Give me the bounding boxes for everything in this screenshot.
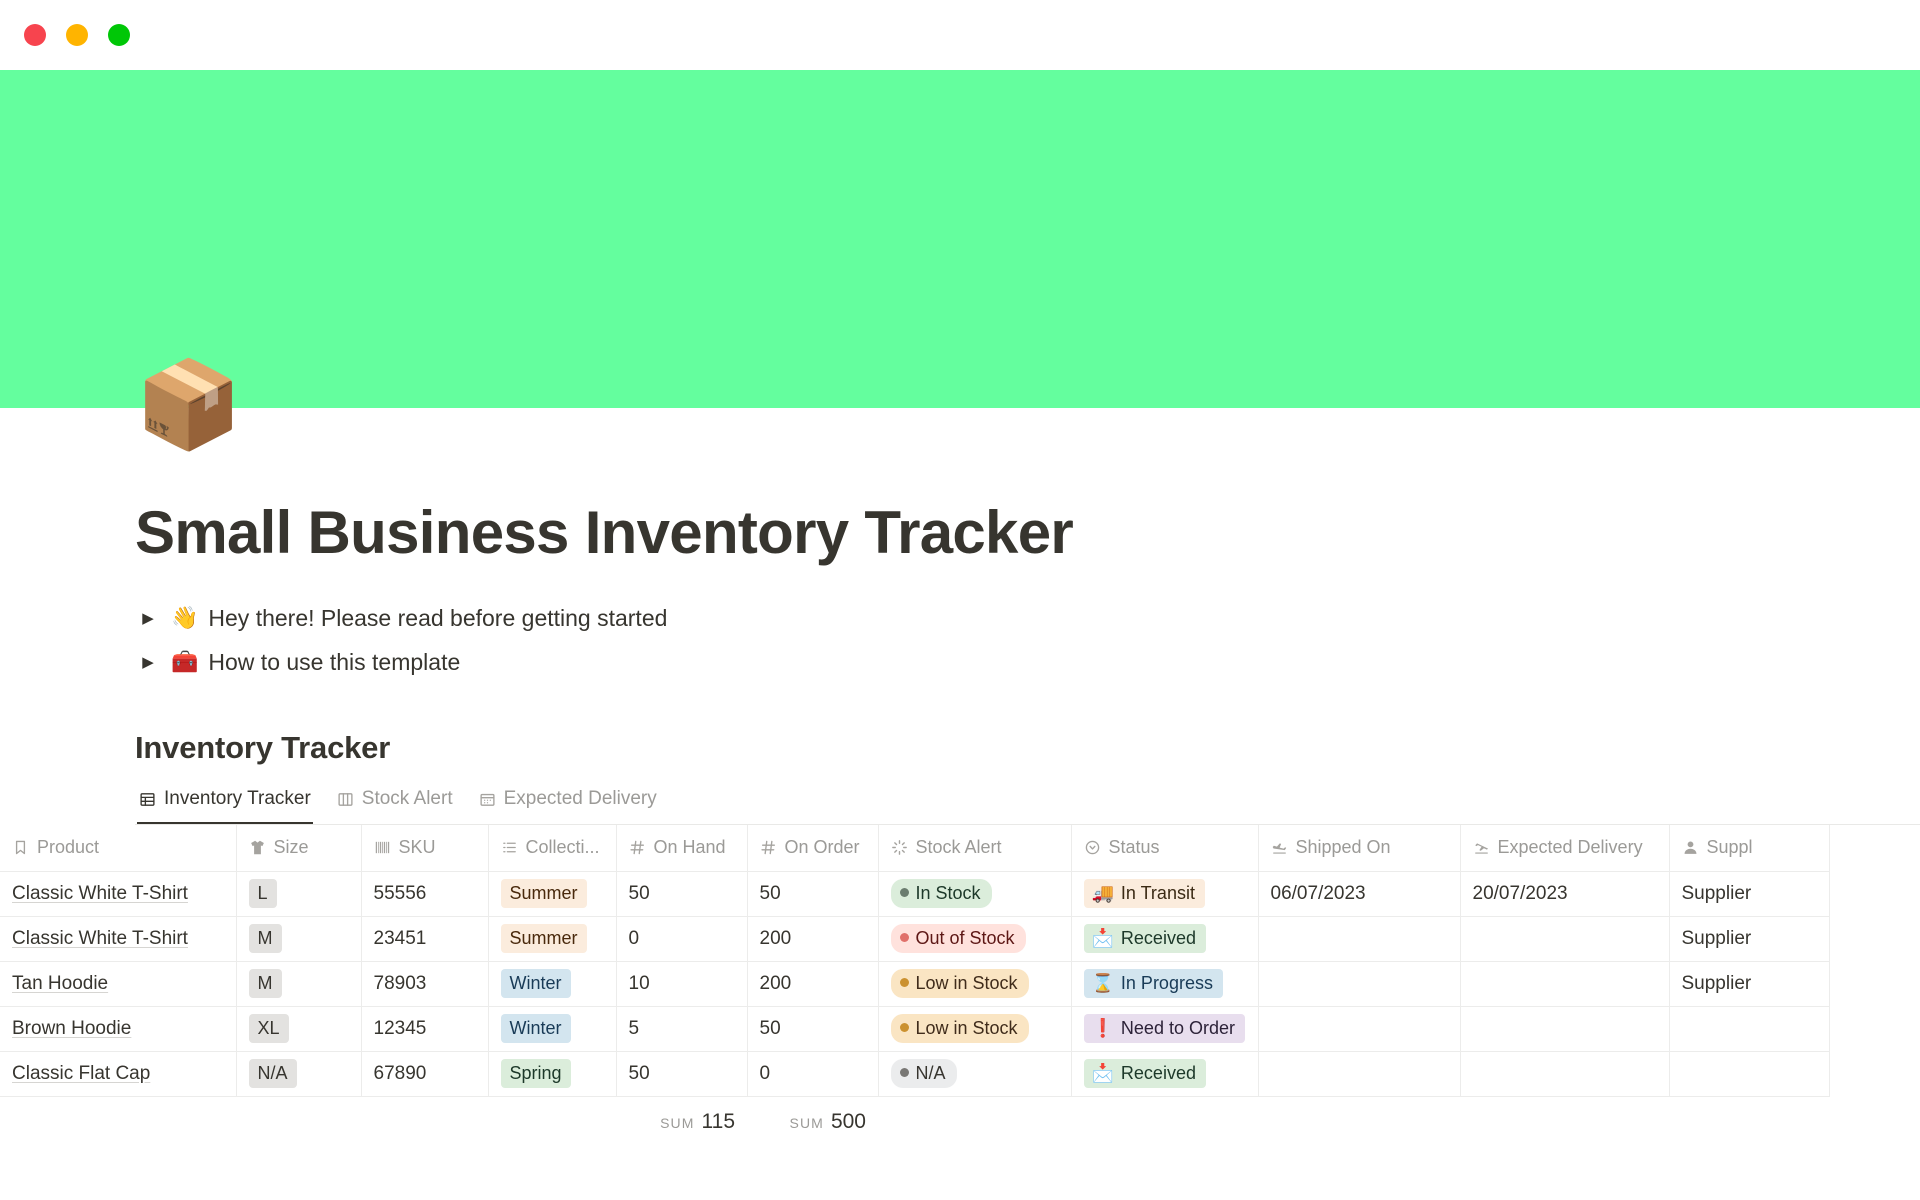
stock-alert-badge: Out of Stock <box>891 924 1026 953</box>
cell-value-shipped_on: 06/07/2023 <box>1271 883 1366 904</box>
stock-alert-label: N/A <box>916 1061 946 1085</box>
status-dot-icon <box>900 1068 909 1077</box>
table-row[interactable]: Tan HoodieM78903Winter10200Low in Stock⌛… <box>0 961 1829 1006</box>
cell-expected_delivery[interactable] <box>1460 961 1669 1006</box>
cell-on_hand[interactable]: 50 <box>616 1051 747 1096</box>
toggle-block-welcome[interactable]: ▶ 👋 Hey there! Please read before gettin… <box>135 596 1920 640</box>
bookmark-icon <box>12 839 29 856</box>
cell-sku[interactable]: 12345 <box>361 1006 488 1051</box>
column-header-size[interactable]: Size <box>236 825 361 871</box>
aggregate-cell-on_order[interactable]: SUM500 <box>747 1110 878 1134</box>
table-header-row: ProductSizeSKUCollecti...On HandOn Order… <box>0 825 1829 871</box>
cell-value-sku: 67890 <box>374 1063 427 1084</box>
database-view-tab-label: Stock Alert <box>362 788 453 810</box>
cell-supplier[interactable]: Supplier <box>1669 916 1829 961</box>
cell-value-sku: 55556 <box>374 883 427 904</box>
size-tag: M <box>249 924 282 953</box>
stock-alert-badge: In Stock <box>891 879 992 908</box>
column-header-label: Shipped On <box>1296 837 1391 858</box>
column-header-label: Stock Alert <box>916 837 1002 858</box>
status-badge: 📩Received <box>1084 1059 1206 1088</box>
column-header-collection[interactable]: Collecti... <box>488 825 616 871</box>
cell-sku[interactable]: 78903 <box>361 961 488 1006</box>
table-row[interactable]: Classic Flat CapN/A67890Spring500N/A📩Rec… <box>0 1051 1829 1096</box>
cell-on_hand[interactable]: 5 <box>616 1006 747 1051</box>
aggregate-value: 115 <box>702 1110 735 1134</box>
cell-value-on_hand: 10 <box>629 973 650 994</box>
database-view-tab-stock-alert[interactable]: Stock Alert <box>335 784 455 824</box>
cell-stock_alert[interactable]: Out of Stock <box>878 916 1071 961</box>
status-label: Received <box>1121 926 1196 950</box>
column-header-supplier[interactable]: Suppl <box>1669 825 1829 871</box>
page-icon[interactable]: 📦 <box>135 356 233 454</box>
page-title[interactable]: Small Business Inventory Tracker <box>135 500 1920 566</box>
cell-collection[interactable]: Winter <box>488 1006 616 1051</box>
size-tag: N/A <box>249 1059 297 1088</box>
column-header-on_order[interactable]: On Order <box>747 825 878 871</box>
status-dot-icon <box>900 888 909 897</box>
status-emoji-icon: ⌛ <box>1092 971 1114 995</box>
close-button[interactable] <box>24 24 46 46</box>
cell-collection[interactable]: Summer <box>488 916 616 961</box>
toggle-block-howto[interactable]: ▶ 🧰 How to use this template <box>135 640 1920 684</box>
board-icon <box>337 791 354 808</box>
cell-size[interactable]: N/A <box>236 1051 361 1096</box>
stock-alert-label: Out of Stock <box>916 926 1015 950</box>
status-label: Received <box>1121 1061 1196 1085</box>
table-row[interactable]: Classic White T-ShirtL55556Summer5050In … <box>0 871 1829 916</box>
cell-product[interactable]: Tan Hoodie <box>0 961 236 1006</box>
cell-sku[interactable]: 23451 <box>361 916 488 961</box>
stock-alert-badge: N/A <box>891 1059 957 1088</box>
stock-alert-badge: Low in Stock <box>891 1014 1029 1043</box>
cell-supplier[interactable]: Supplier <box>1669 961 1829 1006</box>
window-titlebar <box>0 0 1920 70</box>
chevron-right-icon[interactable]: ▶ <box>135 653 161 671</box>
collection-tag: Summer <box>501 924 587 953</box>
database-view-tab-label: Inventory Tracker <box>164 788 311 810</box>
stock-alert-badge: Low in Stock <box>891 969 1029 998</box>
status-label: In Transit <box>1121 881 1195 905</box>
cell-shipped_on[interactable] <box>1258 1051 1460 1096</box>
traffic-light-group <box>24 24 130 46</box>
cell-shipped_on[interactable]: 06/07/2023 <box>1258 871 1460 916</box>
inventory-table: ProductSizeSKUCollecti...On HandOn Order… <box>0 825 1830 1097</box>
collection-tag: Summer <box>501 879 587 908</box>
status-badge: 🚚In Transit <box>1084 879 1205 908</box>
cell-value-sku: 78903 <box>374 973 427 994</box>
cell-on_order[interactable]: 200 <box>747 961 878 1006</box>
loading-icon <box>891 839 908 856</box>
stock-alert-label: Low in Stock <box>916 971 1018 995</box>
cell-size[interactable]: L <box>236 871 361 916</box>
cell-sku[interactable]: 67890 <box>361 1051 488 1096</box>
cell-value-supplier: Supplier <box>1682 973 1752 994</box>
cell-on_order[interactable]: 50 <box>747 871 878 916</box>
cell-on_order[interactable]: 200 <box>747 916 878 961</box>
toggle-label-howto: How to use this template <box>208 649 460 676</box>
cell-value-on_hand: 50 <box>629 883 650 904</box>
aggregate-cell-on_hand[interactable]: SUM115 <box>616 1110 747 1134</box>
cell-expected_delivery[interactable] <box>1460 1051 1669 1096</box>
cell-shipped_on[interactable] <box>1258 961 1460 1006</box>
database-view-tab-inventory-tracker[interactable]: Inventory Tracker <box>137 784 313 824</box>
collection-tag: Winter <box>501 1014 571 1043</box>
cell-status[interactable]: 📩Received <box>1071 916 1258 961</box>
person-icon <box>1682 839 1699 856</box>
column-header-label: Collecti... <box>526 837 600 858</box>
minimize-button[interactable] <box>66 24 88 46</box>
cell-on_order[interactable]: 0 <box>747 1051 878 1096</box>
cell-value-on_hand: 50 <box>629 1063 650 1084</box>
column-header-sku[interactable]: SKU <box>361 825 488 871</box>
select-icon <box>1084 839 1101 856</box>
column-header-shipped_on[interactable]: Shipped On <box>1258 825 1460 871</box>
stock-alert-label: In Stock <box>916 881 981 905</box>
cell-value-on_hand: 5 <box>629 1018 640 1039</box>
page-cover-image[interactable] <box>0 70 1920 408</box>
stock-alert-label: Low in Stock <box>916 1016 1018 1040</box>
wave-emoji-icon: 👋 <box>171 605 198 631</box>
cell-value-on_order: 50 <box>760 1018 781 1039</box>
column-header-label: Suppl <box>1707 837 1753 858</box>
cell-value-on_order: 200 <box>760 973 792 994</box>
cell-on_hand[interactable]: 0 <box>616 916 747 961</box>
status-emoji-icon: 🚚 <box>1092 881 1114 905</box>
cell-supplier[interactable] <box>1669 1051 1829 1096</box>
column-header-on_hand[interactable]: On Hand <box>616 825 747 871</box>
calendar-icon <box>479 791 496 808</box>
cell-value-expected_delivery: 20/07/2023 <box>1473 883 1568 904</box>
aggregate-caption: SUM <box>790 1115 824 1131</box>
table-row[interactable]: Classic White T-ShirtM23451Summer0200Out… <box>0 916 1829 961</box>
cell-product[interactable]: Classic White T-Shirt <box>0 916 236 961</box>
toggle-label-welcome: Hey there! Please read before getting st… <box>208 605 667 632</box>
cell-sku[interactable]: 55556 <box>361 871 488 916</box>
database-view-tab-expected-delivery[interactable]: Expected Delivery <box>477 784 659 824</box>
cell-expected_delivery[interactable] <box>1460 1006 1669 1051</box>
list-icon <box>501 839 518 856</box>
cell-value-on_hand: 0 <box>629 928 640 949</box>
product-link[interactable]: Brown Hoodie <box>12 1018 131 1039</box>
cell-product[interactable]: Classic Flat Cap <box>0 1051 236 1096</box>
table-body: Classic White T-ShirtL55556Summer5050In … <box>0 871 1829 1096</box>
cell-status[interactable]: ❗Need to Order <box>1071 1006 1258 1051</box>
cell-shipped_on[interactable] <box>1258 1006 1460 1051</box>
column-header-label: SKU <box>399 837 436 858</box>
cell-collection[interactable]: Summer <box>488 871 616 916</box>
column-header-product[interactable]: Product <box>0 825 236 871</box>
chevron-right-icon[interactable]: ▶ <box>135 609 161 627</box>
cell-size[interactable]: M <box>236 916 361 961</box>
takeoff-icon <box>1271 839 1288 856</box>
size-tag: L <box>249 879 277 908</box>
aggregate-caption: SUM <box>660 1115 694 1131</box>
database-view-tabs: Inventory TrackerStock AlertExpected Del… <box>135 784 1920 825</box>
cell-collection[interactable]: Spring <box>488 1051 616 1096</box>
table-aggregate-row: SUM115SUM500 <box>0 1097 1920 1147</box>
cell-value-on_order: 50 <box>760 883 781 904</box>
cell-value-sku: 23451 <box>374 928 427 949</box>
column-header-expected_delivery[interactable]: Expected Delivery <box>1460 825 1669 871</box>
maximize-button[interactable] <box>108 24 130 46</box>
number-icon <box>629 839 646 856</box>
status-dot-icon <box>900 933 909 942</box>
cell-stock_alert[interactable]: In Stock <box>878 871 1071 916</box>
barcode-icon <box>374 839 391 856</box>
cell-value-on_order: 200 <box>760 928 792 949</box>
cell-value-on_order: 0 <box>760 1063 771 1084</box>
product-link[interactable]: Classic White T-Shirt <box>12 883 188 904</box>
cell-stock_alert[interactable]: N/A <box>878 1051 1071 1096</box>
cell-on_hand[interactable]: 10 <box>616 961 747 1006</box>
cell-stock_alert[interactable]: Low in Stock <box>878 1006 1071 1051</box>
cell-on_order[interactable]: 50 <box>747 1006 878 1051</box>
cell-collection[interactable]: Winter <box>488 961 616 1006</box>
cell-value-sku: 12345 <box>374 1018 427 1039</box>
table-row[interactable]: Brown HoodieXL12345Winter550Low in Stock… <box>0 1006 1829 1051</box>
column-header-label: Size <box>274 837 309 858</box>
database-title[interactable]: Inventory Tracker <box>135 730 1920 766</box>
product-link[interactable]: Classic White T-Shirt <box>12 928 188 949</box>
status-dot-icon <box>900 978 909 987</box>
product-link[interactable]: Classic Flat Cap <box>12 1063 150 1084</box>
status-emoji-icon: 📩 <box>1092 1061 1114 1085</box>
database-table-wrapper: ProductSizeSKUCollecti...On HandOn Order… <box>0 825 1920 1147</box>
table-icon <box>139 791 156 808</box>
status-badge: ❗Need to Order <box>1084 1014 1245 1043</box>
cell-value-supplier: Supplier <box>1682 883 1752 904</box>
collection-tag: Spring <box>501 1059 571 1088</box>
cell-on_hand[interactable]: 50 <box>616 871 747 916</box>
collection-tag: Winter <box>501 969 571 998</box>
cell-status[interactable]: ⌛In Progress <box>1071 961 1258 1006</box>
landing-icon <box>1473 839 1490 856</box>
column-header-label: On Order <box>785 837 860 858</box>
status-emoji-icon: ❗ <box>1092 1016 1114 1040</box>
database-view-tab-label: Expected Delivery <box>504 788 657 810</box>
cell-size[interactable]: XL <box>236 1006 361 1051</box>
cell-stock_alert[interactable]: Low in Stock <box>878 961 1071 1006</box>
column-header-label: Expected Delivery <box>1498 837 1643 858</box>
cell-value-supplier: Supplier <box>1682 928 1752 949</box>
cell-shipped_on[interactable] <box>1258 916 1460 961</box>
column-header-label: Status <box>1109 837 1160 858</box>
tshirt-icon <box>249 839 266 856</box>
page-body: 📦 Small Business Inventory Tracker ▶ 👋 H… <box>0 408 1920 1200</box>
column-header-label: Product <box>37 837 99 858</box>
size-tag: XL <box>249 1014 289 1043</box>
status-badge: ⌛In Progress <box>1084 969 1223 998</box>
cell-expected_delivery[interactable] <box>1460 916 1669 961</box>
column-header-label: On Hand <box>654 837 726 858</box>
cell-expected_delivery[interactable]: 20/07/2023 <box>1460 871 1669 916</box>
aggregate-value: 500 <box>831 1110 866 1134</box>
column-header-status[interactable]: Status <box>1071 825 1258 871</box>
status-label: In Progress <box>1121 971 1213 995</box>
toolbox-emoji-icon: 🧰 <box>171 649 198 675</box>
number-icon <box>760 839 777 856</box>
status-badge: 📩Received <box>1084 924 1206 953</box>
column-header-stock_alert[interactable]: Stock Alert <box>878 825 1071 871</box>
cell-supplier[interactable] <box>1669 1006 1829 1051</box>
cell-supplier[interactable]: Supplier <box>1669 871 1829 916</box>
cell-product[interactable]: Classic White T-Shirt <box>0 871 236 916</box>
product-link[interactable]: Tan Hoodie <box>12 973 108 994</box>
status-dot-icon <box>900 1023 909 1032</box>
status-emoji-icon: 📩 <box>1092 926 1114 950</box>
cell-status[interactable]: 📩Received <box>1071 1051 1258 1096</box>
status-label: Need to Order <box>1121 1016 1235 1040</box>
size-tag: M <box>249 969 282 998</box>
cell-status[interactable]: 🚚In Transit <box>1071 871 1258 916</box>
cell-size[interactable]: M <box>236 961 361 1006</box>
cell-product[interactable]: Brown Hoodie <box>0 1006 236 1051</box>
